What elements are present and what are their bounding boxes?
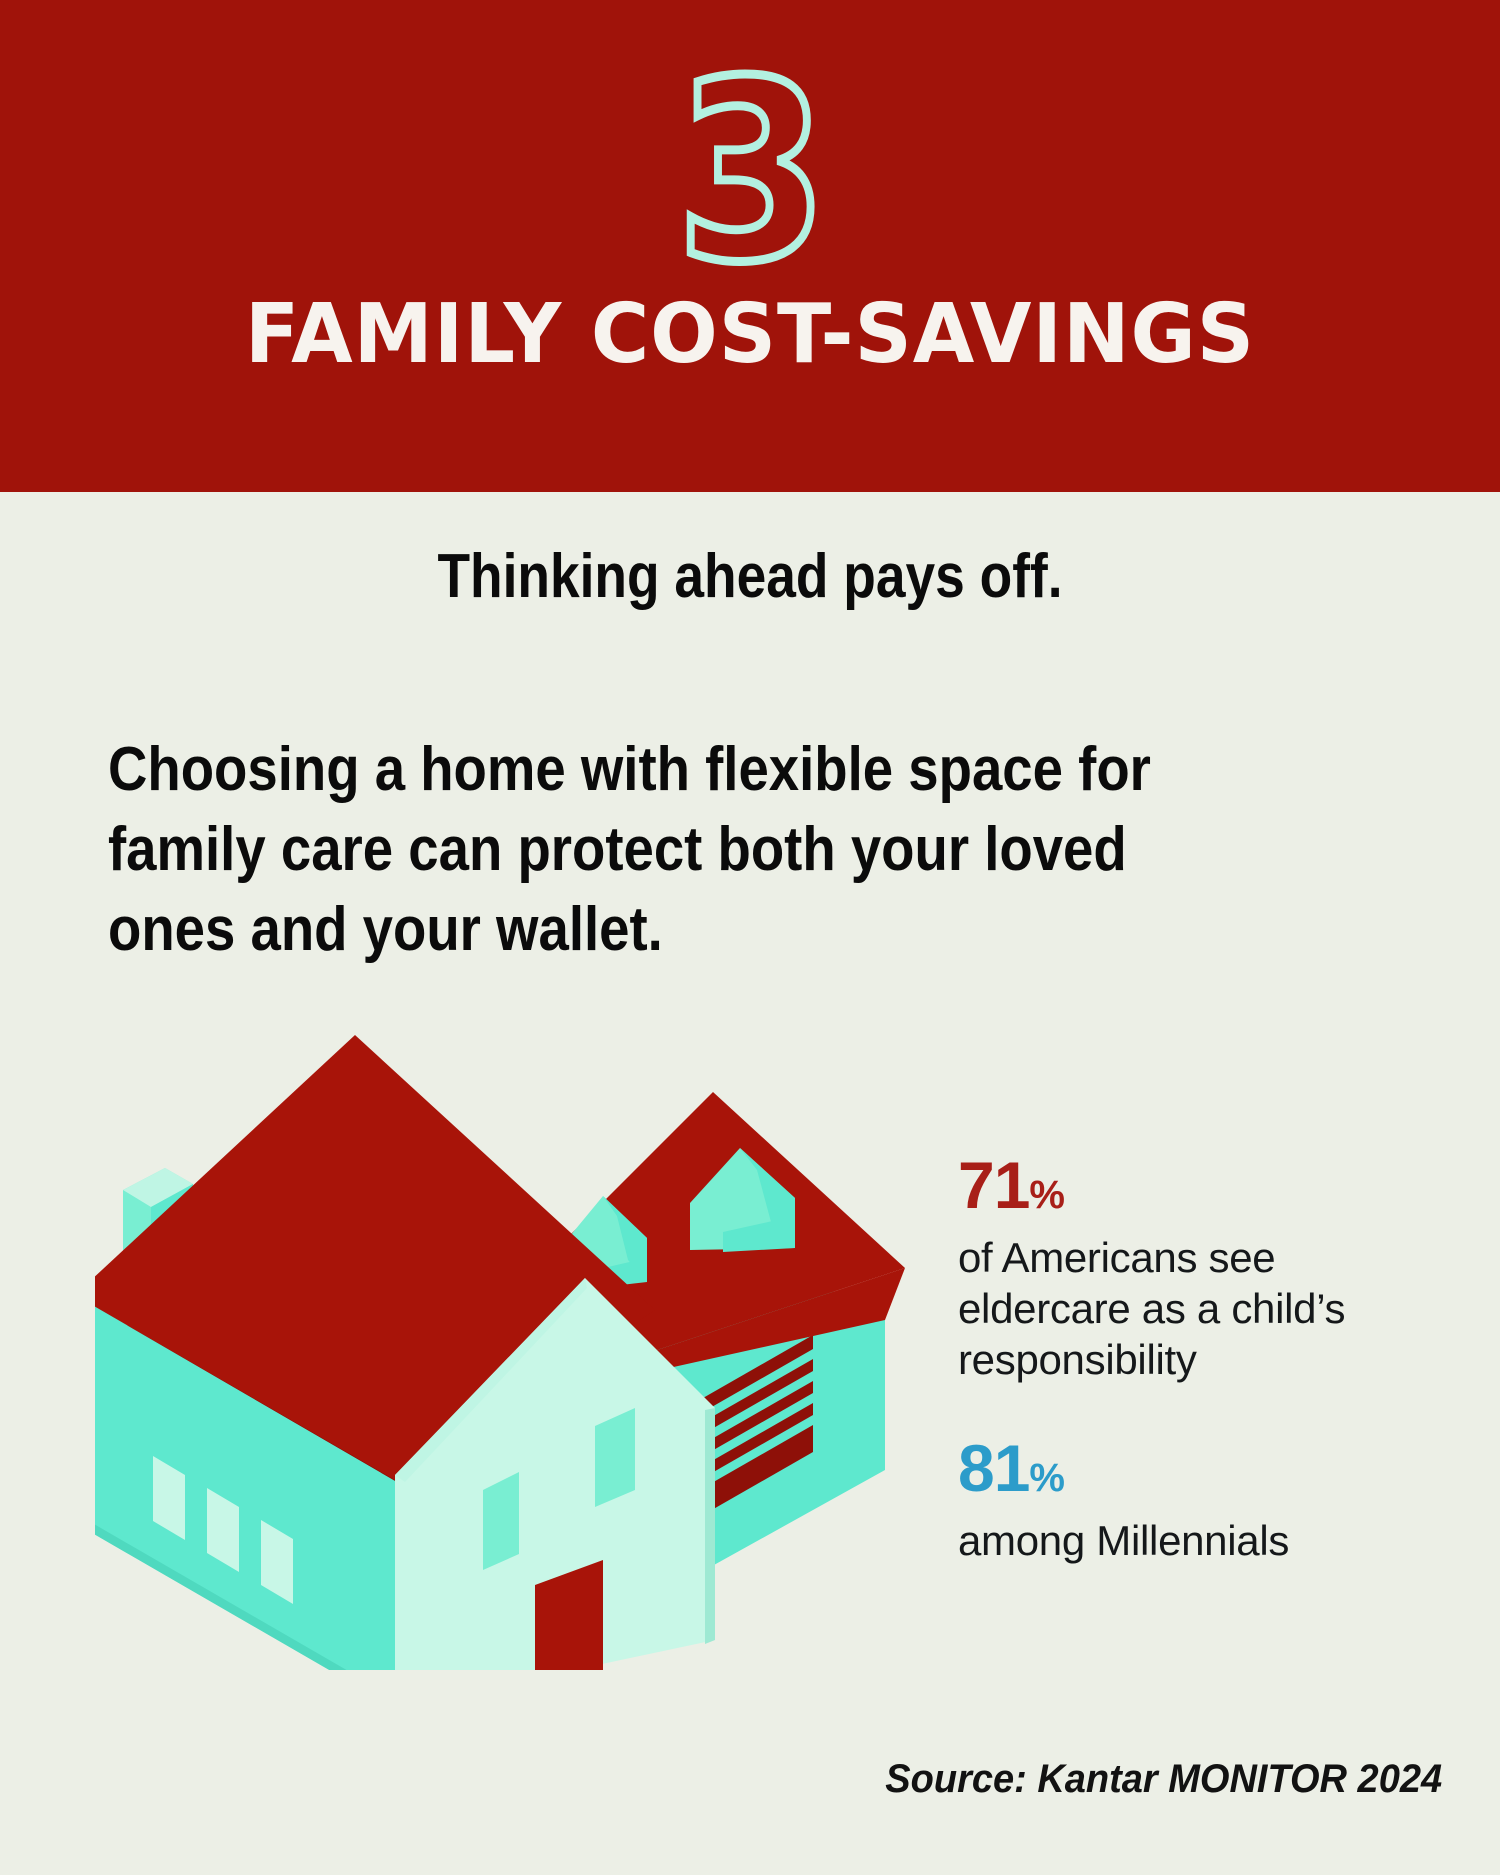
stat-label-millennials: among Millennials [958, 1515, 1438, 1566]
stat-number-text: 81 [958, 1431, 1029, 1505]
isometric-house-icon [95, 1020, 915, 1670]
page-title: FAMILY COST-SAVINGS [23, 290, 1478, 380]
lede-headline: Thinking ahead pays off. [105, 540, 1395, 614]
percent-symbol: % [1029, 1173, 1065, 1217]
infographic-poster: 3 FAMILY COST-SAVINGS Thinking ahead pay… [0, 0, 1500, 1875]
percent-symbol: % [1029, 1456, 1065, 1500]
body-paragraph: Choosing a home with flexible space for … [108, 730, 1252, 970]
stat-number-text: 71 [958, 1148, 1029, 1222]
stat-block-millennials: 81% among Millennials [958, 1431, 1438, 1566]
header-band: 3 FAMILY COST-SAVINGS [0, 0, 1500, 492]
step-number-wrapper: 3 [0, 58, 1500, 288]
statistics-panel: 71% of Americans see eldercare as a chil… [958, 1148, 1438, 1612]
stat-value-71: 71% [958, 1148, 1438, 1232]
stat-label-americans: of Americans see eldercare as a child’s … [958, 1232, 1438, 1385]
step-number: 3 [676, 58, 824, 288]
house-illustration [95, 1020, 915, 1670]
front-wall-right-edge [705, 1408, 715, 1644]
stat-block-americans: 71% of Americans see eldercare as a chil… [958, 1148, 1438, 1385]
source-note: Source: Kantar MONITOR 2024 [885, 1756, 1442, 1802]
stat-value-81: 81% [958, 1431, 1438, 1515]
